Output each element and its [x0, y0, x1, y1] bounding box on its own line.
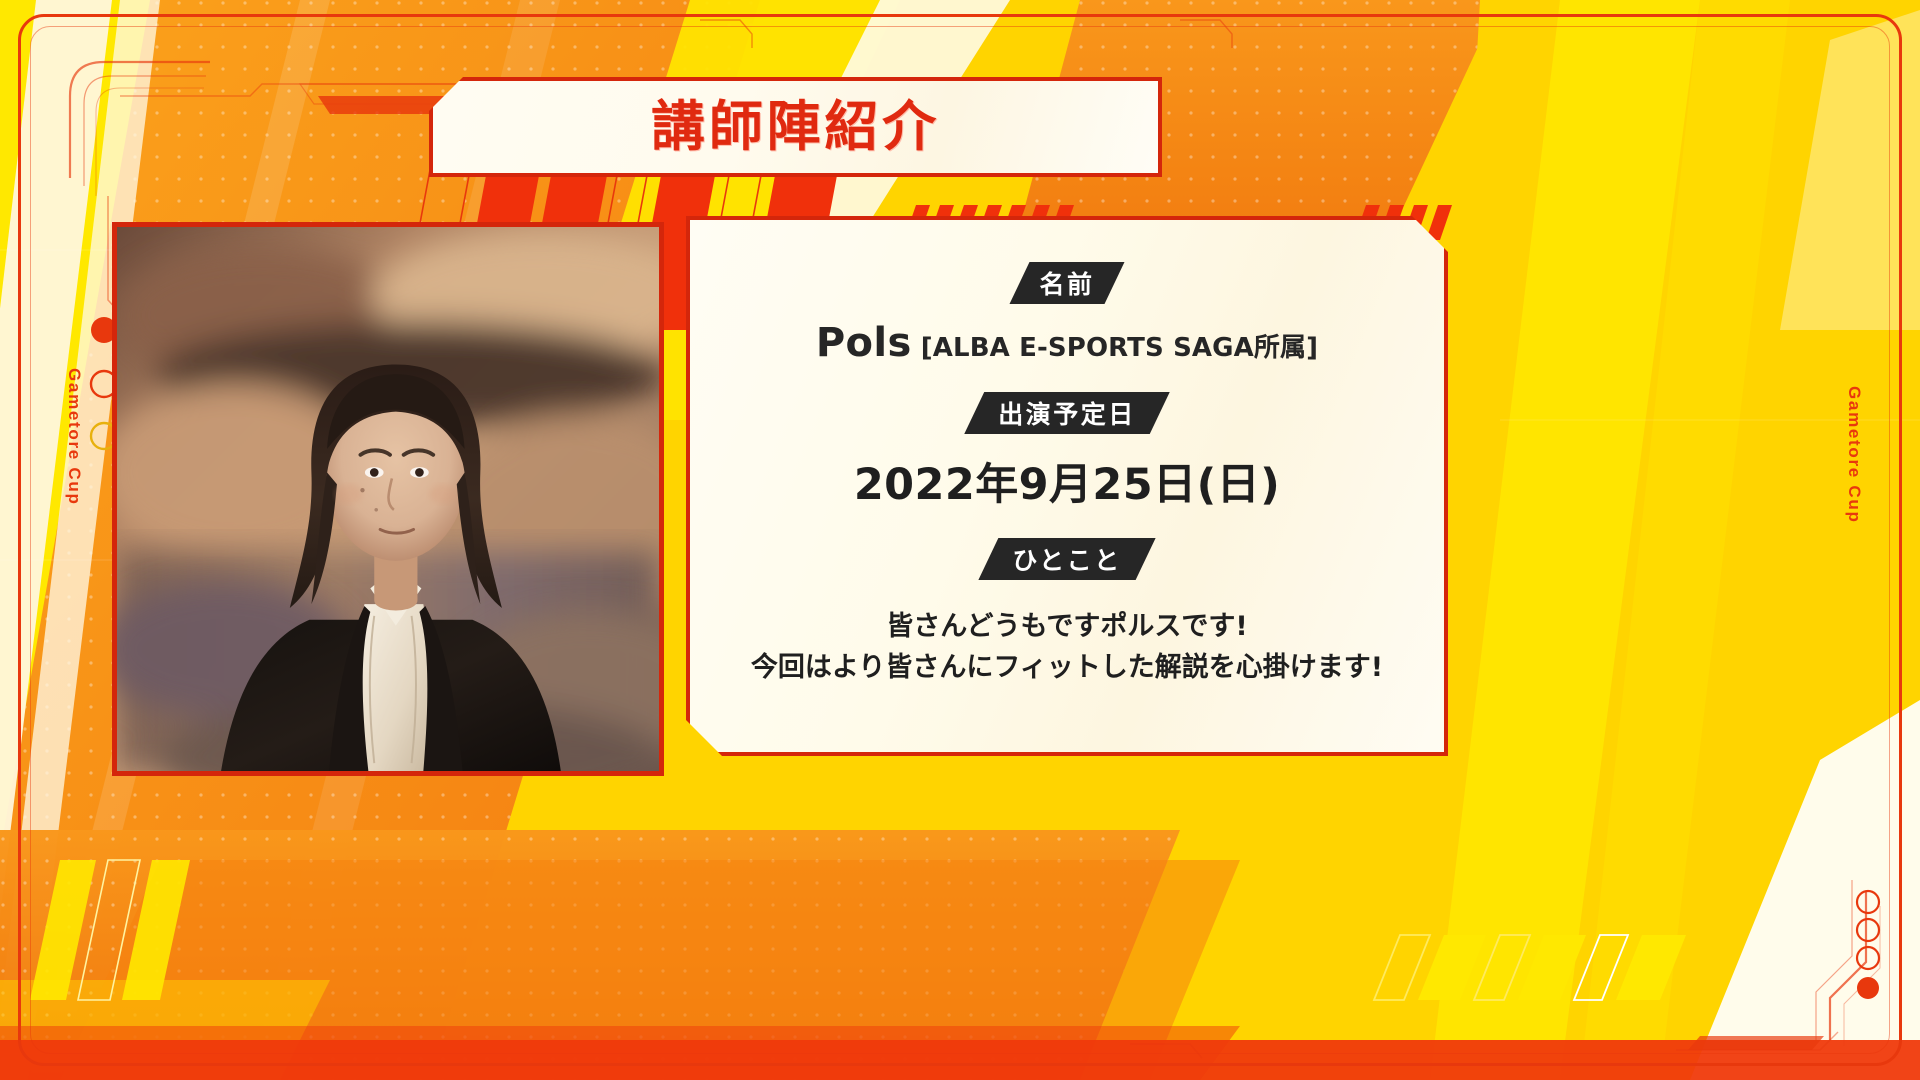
field-value-appearance-date: 2022年9月25日(日): [854, 450, 1280, 512]
instructor-photo-frame: [112, 222, 664, 776]
field-label-name: 名前: [1009, 262, 1124, 304]
comment-line-1: 皆さんどうもですポルスです!: [751, 606, 1383, 647]
title-banner: 講師陣紹介: [429, 77, 1162, 177]
field-value-comment: 皆さんどうもですポルスです! 今回はより皆さんにフィットした解説を心掛けます!: [751, 606, 1383, 688]
side-label-left-gametore-cup: Gametore Cup: [64, 368, 84, 506]
field-label-appearance-date: 出演予定日: [964, 392, 1170, 434]
poster-stage: Gametore Cup Gametore Cup 講師陣紹介: [0, 0, 1920, 1080]
instructor-photo: [117, 227, 659, 771]
field-value-name: Pols [ALBA E-SPORTS SAGA所属]: [816, 320, 1318, 366]
instructor-info-panel: 名前 Pols [ALBA E-SPORTS SAGA所属] 出演予定日 202…: [686, 216, 1448, 756]
instructor-team: [ALBA E-SPORTS SAGA所属]: [921, 327, 1318, 364]
instructor-name: Pols: [816, 320, 912, 366]
field-label-comment: ひとこと: [978, 538, 1155, 580]
comment-line-2: 今回はより皆さんにフィットした解説を心掛けます!: [751, 647, 1383, 688]
side-label-right-gametore-cup: Gametore Cup: [1844, 386, 1864, 524]
page-title: 講師陣紹介: [651, 100, 940, 154]
